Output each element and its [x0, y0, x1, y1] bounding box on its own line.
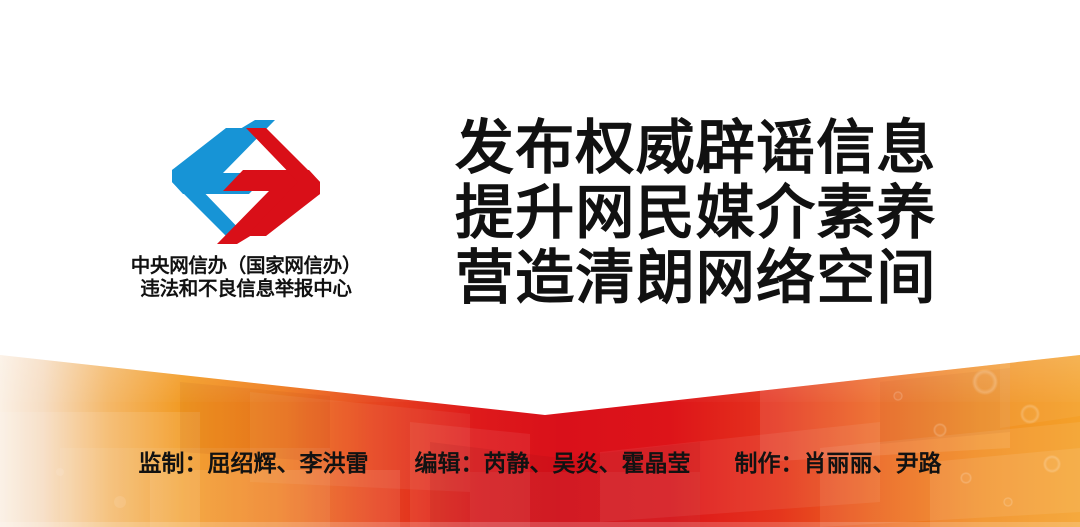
credit-design-label: 制作：	[735, 450, 804, 476]
logo-caption-line-1: 中央网信办（国家网信办）	[96, 255, 396, 278]
credit-editor-names: 芮静、吴炎、霍晶莹	[484, 450, 691, 476]
credit-design-names: 肖丽丽、尹路	[804, 450, 942, 476]
logo-caption-line-2: 违法和不良信息举报中心	[96, 278, 396, 301]
headline-line-2: 提升网民媒介素养	[455, 181, 975, 246]
banner-bottom-highlight	[0, 522, 1080, 527]
headline-line-1: 发布权威辟谣信息	[455, 116, 975, 181]
credit-editor: 编辑：芮静、吴炎、霍晶莹	[415, 448, 691, 478]
poster-root: 中央网信办（国家网信办） 违法和不良信息举报中心 发布权威辟谣信息 提升网民媒介…	[0, 0, 1080, 527]
credit-editor-label: 编辑：	[415, 450, 484, 476]
credit-producer-label: 监制：	[139, 450, 208, 476]
headline-block: 发布权威辟谣信息 提升网民媒介素养 营造清朗网络空间	[455, 116, 975, 311]
banner-top-sheen	[0, 352, 1080, 402]
logo-block: 中央网信办（国家网信办） 违法和不良信息举报中心	[96, 118, 396, 318]
logo-caption: 中央网信办（国家网信办） 违法和不良信息举报中心	[96, 255, 396, 301]
credit-producer-names: 屈绍辉、李洪雷	[208, 450, 369, 476]
cyberspace-reporting-logo-icon	[171, 118, 321, 246]
credits-row: 监制：屈绍辉、李洪雷 编辑：芮静、吴炎、霍晶莹 制作：肖丽丽、尹路	[0, 443, 1080, 483]
credit-design: 制作：肖丽丽、尹路	[735, 448, 942, 478]
credit-producer: 监制：屈绍辉、李洪雷	[139, 448, 369, 478]
bottom-gradient-banner	[0, 352, 1080, 527]
headline-line-3: 营造清朗网络空间	[455, 246, 975, 311]
